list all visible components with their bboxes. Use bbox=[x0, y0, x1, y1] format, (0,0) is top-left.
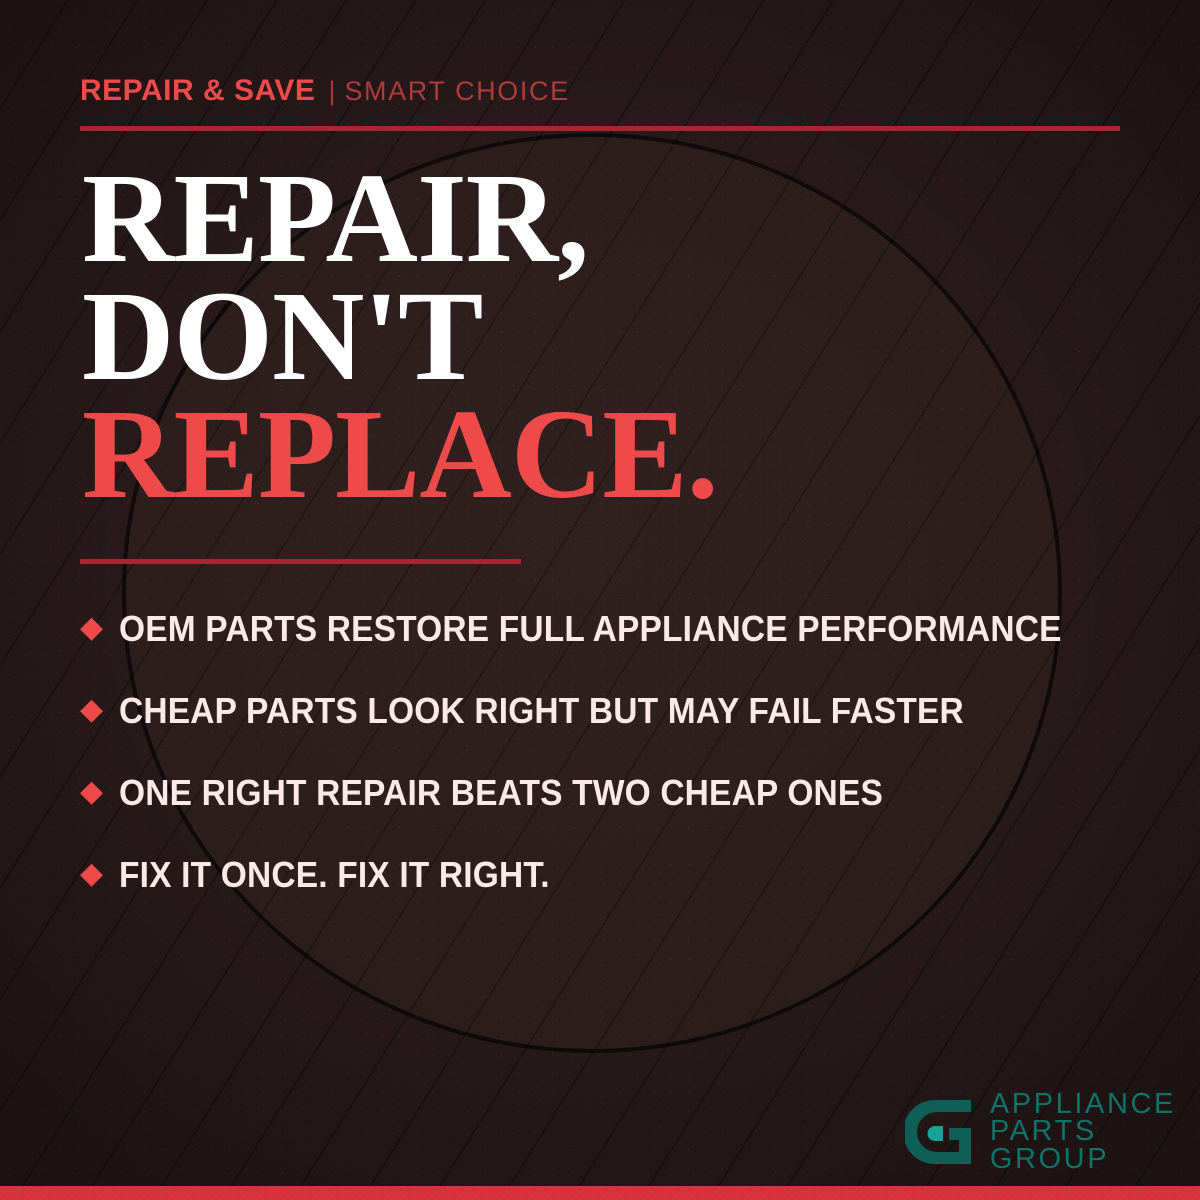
promo-poster: REPAIR & SAVE | SMART CHOICE REPAIR, DON… bbox=[0, 0, 1200, 1200]
eyebrow-light-label: SMART CHOICE bbox=[344, 76, 569, 107]
list-item: ◆ ONE RIGHT REPAIR BEATS TWO CHEAP ONES bbox=[80, 752, 1150, 834]
list-item-label: FIX IT ONCE. FIX IT RIGHT. bbox=[119, 854, 550, 896]
headline-line-2: DON'T bbox=[82, 278, 1142, 396]
benefit-list: ◆ OEM PARTS RESTORE FULL APPLIANCE PERFO… bbox=[80, 588, 1150, 916]
eyebrow-separator: | bbox=[328, 76, 335, 107]
brand-logo: APPLIANCE PARTS GROUP bbox=[905, 1091, 1176, 1174]
bottom-accent-bar bbox=[0, 1186, 1200, 1200]
list-item-label: ONE RIGHT REPAIR BEATS TWO CHEAP ONES bbox=[119, 772, 883, 814]
eyebrow: REPAIR & SAVE | SMART CHOICE bbox=[80, 74, 570, 108]
diamond-bullet-icon: ◆ bbox=[80, 859, 103, 889]
brand-line-3: GROUP bbox=[990, 1146, 1176, 1174]
poster-content: REPAIR & SAVE | SMART CHOICE REPAIR, DON… bbox=[0, 0, 1200, 1200]
diamond-bullet-icon: ◆ bbox=[80, 777, 103, 807]
brand-wordmark: APPLIANCE PARTS GROUP bbox=[990, 1091, 1176, 1174]
list-item-label: CHEAP PARTS LOOK RIGHT BUT MAY FAIL FAST… bbox=[119, 690, 964, 732]
headline: REPAIR, DON'T REPLACE. bbox=[82, 160, 1142, 513]
list-item: ◆ CHEAP PARTS LOOK RIGHT BUT MAY FAIL FA… bbox=[80, 670, 1150, 752]
list-item: ◆ OEM PARTS RESTORE FULL APPLIANCE PERFO… bbox=[80, 588, 1150, 670]
bottom-bar-texture bbox=[0, 1186, 1200, 1200]
diamond-bullet-icon: ◆ bbox=[80, 695, 103, 725]
diamond-bullet-icon: ◆ bbox=[80, 613, 103, 643]
headline-line-3: REPLACE. bbox=[82, 396, 1142, 514]
list-item-label: OEM PARTS RESTORE FULL APPLIANCE PERFORM… bbox=[119, 608, 1062, 650]
list-item: ◆ FIX IT ONCE. FIX IT RIGHT. bbox=[80, 834, 1150, 916]
headline-divider bbox=[80, 559, 521, 564]
brand-line-1: APPLIANCE bbox=[990, 1091, 1176, 1119]
eyebrow-strong-label: REPAIR & SAVE bbox=[80, 74, 315, 108]
letter-g-mark-icon bbox=[905, 1096, 977, 1168]
headline-line-1: REPAIR, bbox=[82, 160, 1142, 278]
brand-line-2: PARTS bbox=[990, 1118, 1176, 1146]
header-divider bbox=[80, 126, 1120, 131]
